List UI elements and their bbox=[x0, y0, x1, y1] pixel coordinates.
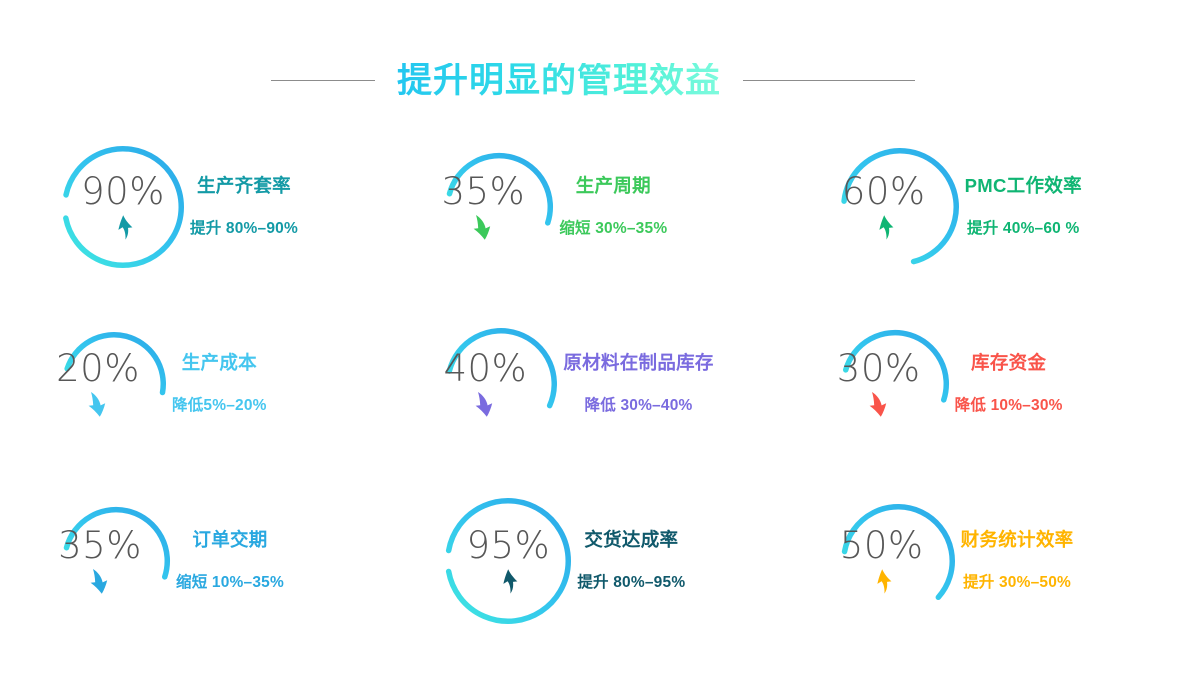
metric-info: 生产成本降低5%–20% bbox=[172, 353, 267, 413]
gauge-value: 95% bbox=[466, 527, 550, 564]
metric-info: 库存资金降低 10%–30% bbox=[955, 353, 1063, 413]
arrow-up-icon bbox=[497, 568, 519, 594]
arrow-up-icon bbox=[112, 214, 134, 240]
metric-title: PMC工作效率 bbox=[965, 176, 1082, 196]
gauge-ring: 40% bbox=[445, 328, 557, 440]
gauge-ring: 35% bbox=[445, 153, 553, 261]
metric-cell[interactable]: 50%财务统计效率提升 30%–50% bbox=[791, 472, 1186, 649]
metric-subtitle: 降低 10%–30% bbox=[955, 397, 1063, 414]
gauge-ring: 50% bbox=[841, 504, 955, 618]
gauge-value: 90% bbox=[81, 173, 165, 210]
metric-subtitle: 降低 30%–40% bbox=[585, 397, 693, 414]
gauge-ring: 95% bbox=[445, 498, 571, 624]
metric-title: 库存资金 bbox=[971, 353, 1046, 373]
metric-cell[interactable]: 60%PMC工作效率提升 40%–60 % bbox=[791, 118, 1186, 295]
arrow-down-icon bbox=[474, 391, 496, 417]
arrow-down-icon bbox=[87, 391, 109, 417]
gauge-ring: 60% bbox=[841, 148, 959, 266]
arrow-down-icon bbox=[868, 391, 890, 417]
metric-cell[interactable]: 30%库存资金降低 10%–30% bbox=[791, 295, 1186, 472]
metric-subtitle: 提升 30%–50% bbox=[963, 574, 1071, 591]
page-header: 提升明显的管理效益 bbox=[0, 52, 1186, 108]
gauge-value: 50% bbox=[840, 527, 924, 564]
header-rule-left-icon bbox=[271, 80, 375, 81]
metric-title: 生产周期 bbox=[576, 176, 651, 196]
metric-info: 生产周期缩短 30%–35% bbox=[559, 176, 667, 236]
page-title: 提升明显的管理效益 bbox=[397, 63, 721, 98]
header-rule-right-icon bbox=[743, 80, 915, 81]
metric-info: PMC工作效率提升 40%–60 % bbox=[965, 176, 1082, 236]
metric-info: 原材料在制品库存降低 30%–40% bbox=[563, 353, 713, 413]
gauge-ring: 90% bbox=[62, 146, 184, 268]
gauge-value: 40% bbox=[443, 350, 527, 387]
metric-subtitle: 缩短 30%–35% bbox=[559, 220, 667, 237]
metric-title: 财务统计效率 bbox=[961, 530, 1074, 550]
arrow-down-icon bbox=[89, 568, 111, 594]
metric-cell[interactable]: 35%生产周期缩短 30%–35% bbox=[395, 118, 790, 295]
metric-subtitle: 提升 80%–95% bbox=[577, 574, 685, 591]
arrow-up-icon bbox=[873, 214, 895, 240]
gauge-ring: 20% bbox=[62, 332, 166, 436]
metric-title: 生产成本 bbox=[182, 353, 257, 373]
metric-info: 交货达成率提升 80%–95% bbox=[577, 530, 685, 590]
metric-subtitle: 提升 40%–60 % bbox=[967, 220, 1079, 237]
metric-cell[interactable]: 35%订单交期缩短 10%–35% bbox=[0, 472, 395, 649]
metric-cell[interactable]: 95%交货达成率提升 80%–95% bbox=[395, 472, 790, 649]
metric-cell[interactable]: 90%生产齐套率提升 80%–90% bbox=[0, 118, 395, 295]
gauge-value: 20% bbox=[56, 350, 140, 387]
metric-subtitle: 缩短 10%–35% bbox=[176, 574, 284, 591]
metric-cell[interactable]: 40%原材料在制品库存降低 30%–40% bbox=[395, 295, 790, 472]
gauge-value: 60% bbox=[842, 173, 926, 210]
arrow-down-icon bbox=[472, 214, 494, 240]
metric-title: 订单交期 bbox=[192, 530, 267, 550]
gauge-value: 30% bbox=[837, 350, 921, 387]
metric-info: 订单交期缩短 10%–35% bbox=[176, 530, 284, 590]
arrow-up-icon bbox=[871, 568, 893, 594]
metric-subtitle: 提升 80%–90% bbox=[190, 220, 298, 237]
metric-title: 原材料在制品库存 bbox=[563, 353, 713, 373]
gauge-value: 35% bbox=[58, 527, 142, 564]
metric-title: 交货达成率 bbox=[584, 530, 678, 550]
gauge-ring: 30% bbox=[841, 330, 949, 438]
metric-info: 财务统计效率提升 30%–50% bbox=[961, 530, 1074, 590]
gauge-ring: 35% bbox=[62, 507, 170, 615]
metric-title: 生产齐套率 bbox=[197, 176, 291, 196]
metric-subtitle: 降低5%–20% bbox=[172, 397, 267, 414]
metric-cell[interactable]: 20%生产成本降低5%–20% bbox=[0, 295, 395, 472]
metric-info: 生产齐套率提升 80%–90% bbox=[190, 176, 298, 236]
metrics-grid: 90%生产齐套率提升 80%–90%35%生产周期缩短 30%–35%60%PM… bbox=[0, 118, 1186, 649]
gauge-value: 35% bbox=[441, 173, 525, 210]
